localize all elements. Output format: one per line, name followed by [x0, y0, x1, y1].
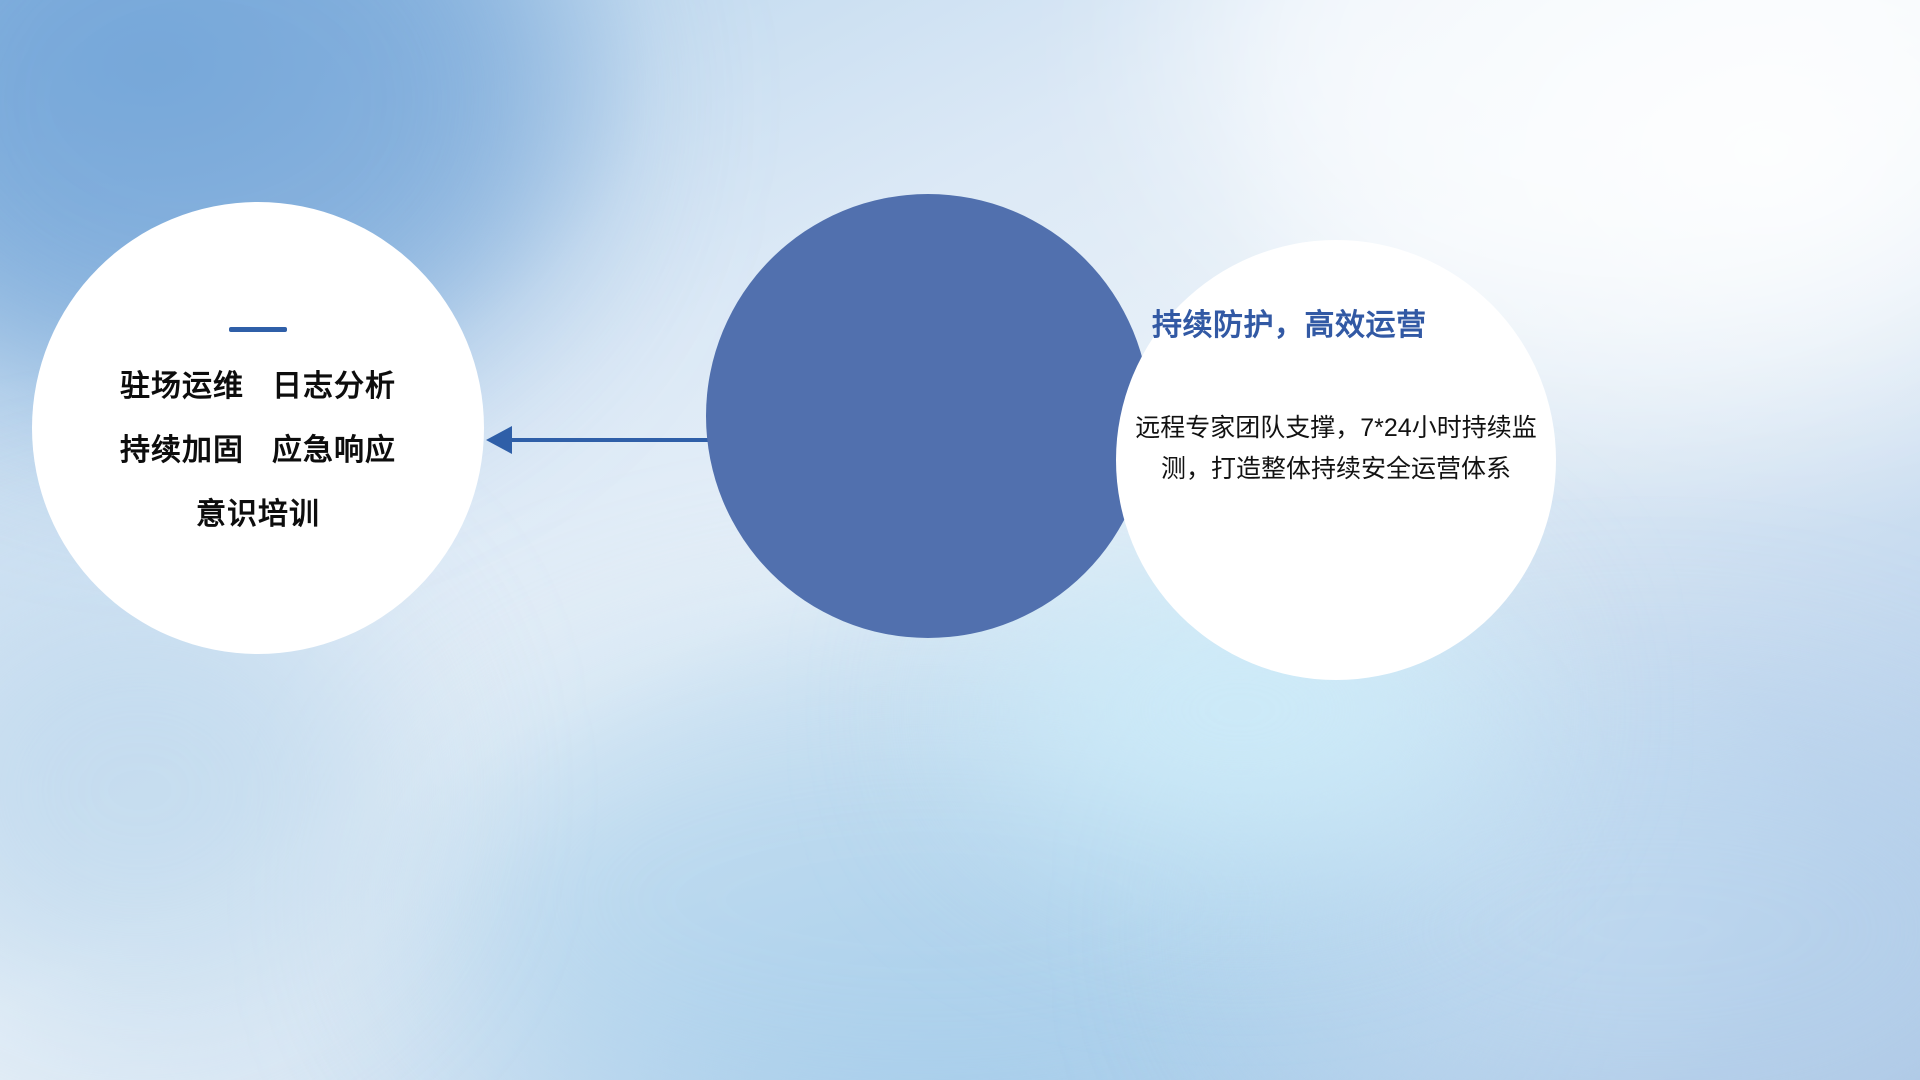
leftward-arrow-icon	[480, 414, 740, 466]
capability-tag-row-2: 持续加固应急响应	[120, 436, 396, 466]
capability-tag-awareness-training: 意识培训	[196, 500, 320, 530]
right-circle-heading: 持续防护，高效运营	[1152, 300, 1572, 344]
right-circle-body-text: 远程专家团队支撑，7*24小时持续监测，打造整体持续安全运营体系	[1134, 408, 1538, 489]
background-blob-bottom-right	[1240, 700, 1920, 1080]
capability-tag-continuous-hardening: 持续加固	[120, 434, 244, 467]
capability-tag-row-1: 驻场运维日志分析	[120, 372, 396, 402]
middle-circle-content: 现场监测，快速响应安全专家现场保障，最短时间响应突发网络安全事件，将服务效率最大…	[706, 194, 1150, 638]
capability-tag-incident-response: 应急响应	[272, 434, 396, 467]
background-blob-bottom-mid	[420, 640, 1440, 1080]
onsite-capability-circle[interactable]: 驻场运维日志分析 持续加固应急响应 意识培训	[32, 202, 484, 654]
left-circle-divider-rule	[229, 327, 287, 332]
onsite-monitoring-circle[interactable]: 现场监测，快速响应安全专家现场保障，最短时间响应突发网络安全事件，将服务效率最大…	[706, 194, 1150, 638]
capability-tag-log-analysis: 日志分析	[272, 370, 396, 403]
slide-canvas: 驻场运维日志分析 持续加固应急响应 意识培训 现场监测，快速响应安全专家现场保障…	[0, 0, 1920, 1080]
capability-tag-onsite-ops: 驻场运维	[120, 370, 244, 403]
